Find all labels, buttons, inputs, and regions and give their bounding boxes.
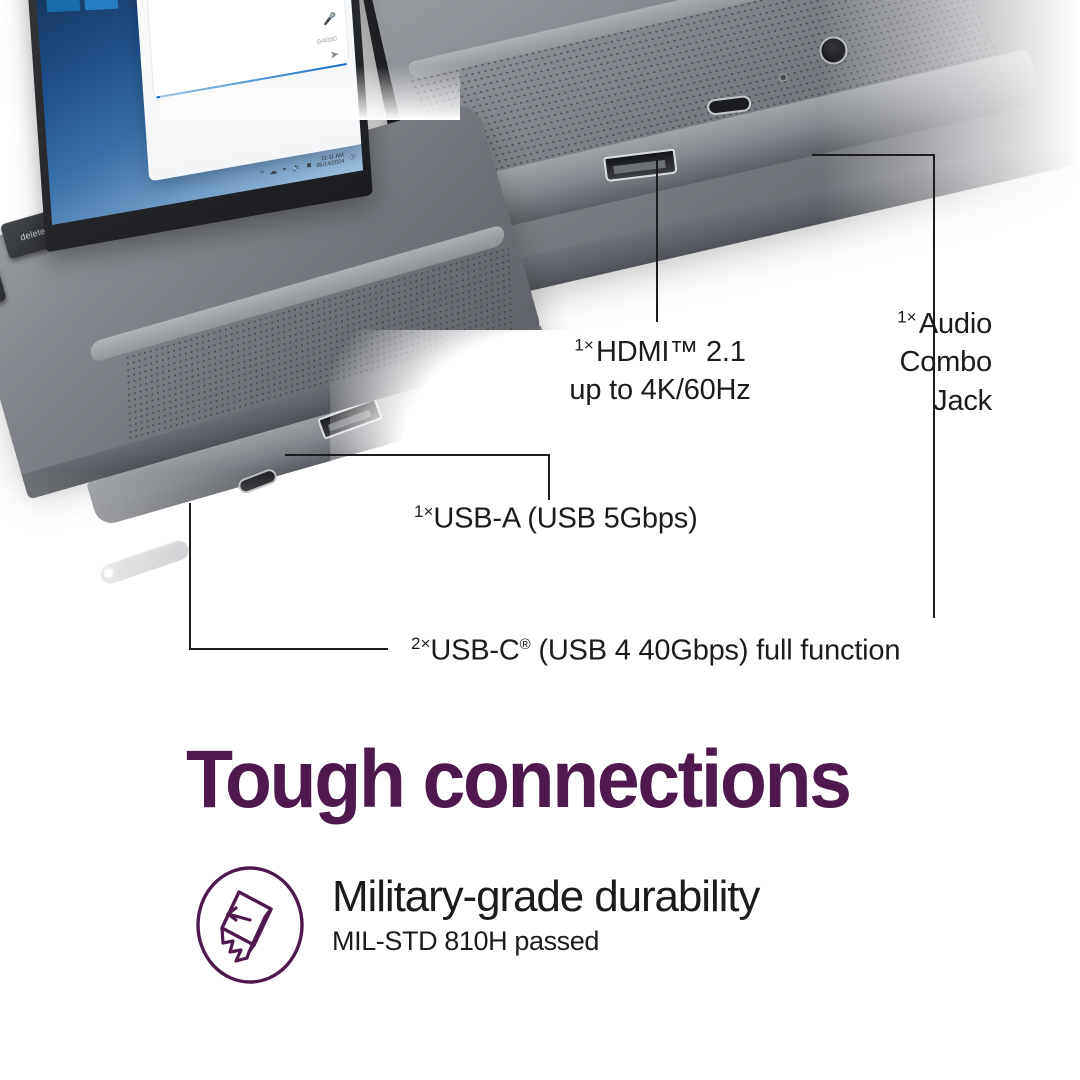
wifi-icon[interactable]: ◓ [282,164,287,174]
callout-hdmi: 1× HDMI™ 2.1 up to 4K/60Hz [520,333,800,410]
chevron-up-icon[interactable]: ^ [260,168,264,178]
callout-jack-label: Audio [919,308,992,340]
callout-hdmi-line1: 1× HDMI™ 2.1 [520,333,800,371]
callout-jack-line2: Combo [792,343,992,381]
callout-hdmi-count: 1 [574,335,583,354]
photo-fade-top [160,0,460,120]
callout-jack-line1: 1× Audio [792,305,992,343]
callout-usbc-label-b: (USB 4 40Gbps) full function [531,635,901,667]
callout-hdmi-line2: up to 4K/60Hz [520,371,800,409]
taskbar-clock[interactable]: 11:11 AM 05/14/2024 [316,152,345,170]
speaker-icon[interactable]: 🔈 [291,161,301,172]
callout-usbc-label-a: USB-C [430,635,519,667]
battery-icon[interactable]: ■ [306,160,311,170]
windows-wallpaper-icon [42,0,119,13]
callout-audio-jack: 1× Audio Combo Jack [792,305,992,420]
callout-jack-count: 1 [897,307,906,326]
registered-trademark-icon: ® [520,636,531,653]
key-label: delete [19,226,46,243]
feature-text-block: Military-grade durability MIL-STD 810H p… [332,864,759,957]
callout-jack-line3: Jack [792,382,992,420]
callout-usba-label: USB-A (USB 5Gbps) [433,503,697,535]
cloud-icon[interactable]: ☁ [269,166,278,176]
multiplier-icon: × [423,502,433,521]
feature-title: Military-grade durability [332,874,759,920]
military-durability-icon [192,864,308,986]
feature-subtitle: MIL-STD 810H passed [332,926,759,957]
multiplier-icon: × [584,335,594,354]
product-marketing-slide: ⏻ prt sc delete [0,0,1080,1080]
callout-usb-c: 2×USB-C® (USB 4 40Gbps) full function [411,634,900,668]
page-headline: Tough connections [186,733,850,827]
key-backspace: backspace [0,265,7,325]
multiplier-icon: × [420,634,430,653]
feature-row: Military-grade durability MIL-STD 810H p… [192,864,759,986]
callout-hdmi-label: HDMI™ 2.1 [596,336,746,368]
multiplier-icon: × [907,307,917,326]
notification-icon[interactable]: ☉ [349,152,357,162]
callout-usb-a: 1×USB-A (USB 5Gbps) [414,502,698,536]
